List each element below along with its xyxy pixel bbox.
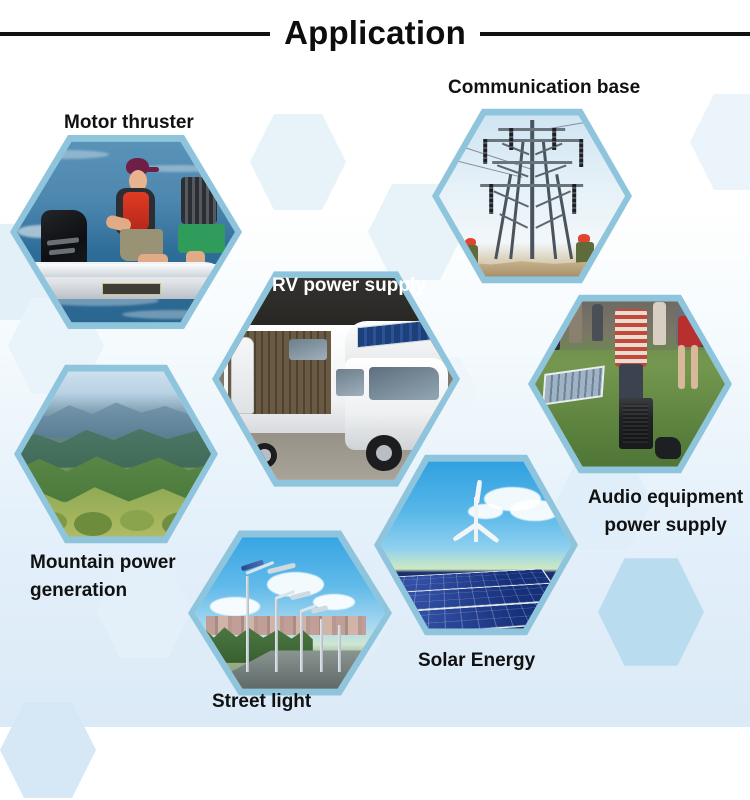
audio-speaker (619, 398, 653, 449)
decor-hexagon (0, 700, 96, 800)
application-cell-audio-equipment[interactable] (528, 292, 732, 476)
street-light-pole (300, 610, 303, 672)
page-title: Application (284, 16, 466, 53)
ground (439, 257, 625, 279)
label-street-light: Street light (212, 688, 311, 716)
title-rule-left (0, 32, 270, 36)
city-skyline (206, 616, 366, 635)
decor-hexagon (690, 92, 750, 192)
application-cell-communication-base[interactable] (432, 106, 632, 286)
boat-badge (102, 283, 161, 295)
person-plaid-shirt (615, 309, 647, 367)
street-light-pole (246, 576, 249, 673)
label-rv-power-supply: RV power supply (272, 272, 426, 300)
street-light-pole (338, 625, 341, 672)
application-cell-street-light[interactable] (188, 528, 392, 698)
application-cell-mountain-power-generation[interactable] (14, 362, 218, 546)
page-title-banner: Application (0, 0, 750, 68)
label-solar-energy: Solar Energy (418, 647, 535, 675)
decor-hexagon (250, 112, 346, 212)
street-light-pole (275, 597, 278, 672)
application-cell-solar-energy[interactable] (374, 452, 578, 638)
application-cell-motor-thruster[interactable] (10, 132, 242, 332)
decor-hexagon (598, 556, 704, 668)
title-rule-right (480, 32, 750, 36)
equipment-bag (655, 437, 682, 459)
transmission-tower (476, 120, 588, 259)
label-communication-base: Communication base (448, 74, 640, 102)
portable-solar-panel (542, 366, 605, 406)
label-motor-thruster: Motor thruster (64, 109, 194, 137)
street-light-pole (320, 619, 323, 672)
label-mountain-power-generation: Mountain power generation (30, 549, 176, 604)
label-audio-equipment: Audio equipment power supply (588, 484, 743, 539)
